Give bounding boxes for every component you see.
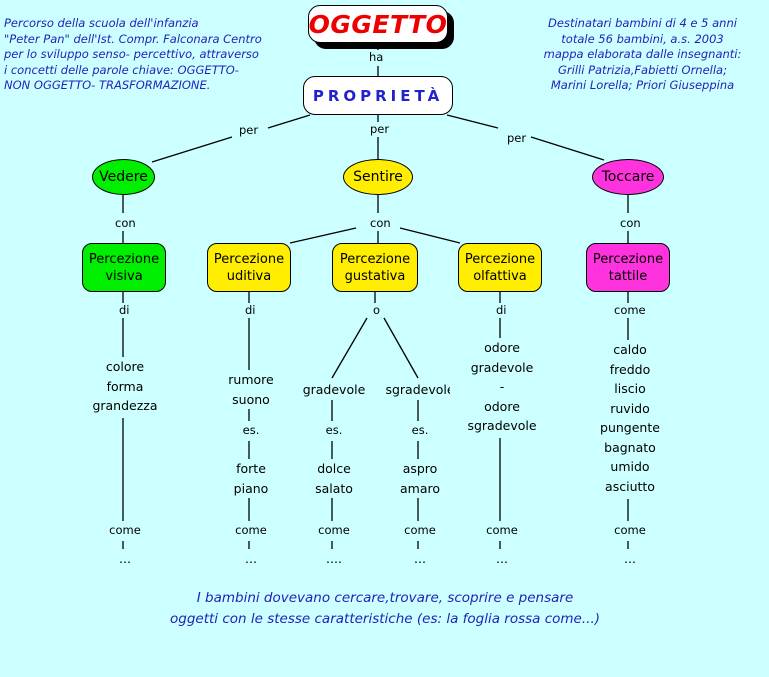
leaf-uditiva-attributes: rumore suono — [204, 370, 298, 409]
leaf-uditiva-come: come — [219, 521, 283, 541]
node-percezione-olfattiva-line1: Percezione — [465, 251, 535, 268]
node-toccare-label: Toccare — [602, 169, 655, 185]
leaf-visiva-attributes: colore forma grandezza — [63, 357, 187, 416]
edge-proprieta-vedere-b — [152, 137, 232, 162]
edge-proprieta-vedere-a — [268, 115, 310, 128]
leaf-olfattiva-attributes: odore gradevole - odore sgradevole — [450, 338, 554, 436]
edge-label-per-toccare: per — [504, 131, 529, 145]
node-percezione-gustativa-line1: Percezione — [340, 251, 410, 268]
leaf-visiva-ellipsis: ... — [103, 549, 147, 569]
leaf-tattile-ellipsis: ... — [608, 549, 652, 569]
node-percezione-uditiva-line1: Percezione — [214, 251, 284, 268]
concept-map: Percorso della scuola dell'infanzia "Pet… — [0, 0, 769, 677]
node-toccare[interactable]: Toccare — [592, 159, 664, 195]
edge-label-con-vedere: con — [112, 216, 139, 230]
leaf-uditiva-examples: forte piano — [209, 459, 293, 498]
node-percezione-tattile-line1: Percezione — [593, 251, 663, 268]
node-sentire-label: Sentire — [353, 169, 403, 185]
header-right-note: Destinatari bambini di 4 e 5 anni totale… — [525, 16, 760, 94]
edge-label-per-sentire: per — [367, 122, 392, 136]
leaf-sgradevole-come: come — [388, 521, 452, 541]
edge-label-con-toccare: con — [617, 216, 644, 230]
node-proprieta-label: PROPRIETÀ — [313, 87, 443, 105]
edge-o-gradevole — [332, 318, 367, 378]
node-sentire[interactable]: Sentire — [343, 159, 413, 195]
leaf-sgradevole-examples: aspro amaro — [378, 459, 462, 498]
footer-caption: I bambini dovevano cercare,trovare, scop… — [100, 588, 670, 630]
edge-con-olfattiva — [400, 228, 460, 243]
leaf-gradevole-examples: dolce salato — [292, 459, 376, 498]
node-percezione-uditiva[interactable]: Percezione uditiva — [207, 243, 291, 292]
node-vedere[interactable]: Vedere — [92, 159, 155, 195]
leaf-uditiva-ellipsis: ... — [229, 549, 273, 569]
leaf-gradevole: gradevole — [287, 380, 381, 400]
node-percezione-visiva[interactable]: Percezione visiva — [82, 243, 166, 292]
node-percezione-olfattiva-line2: olfattiva — [473, 268, 527, 285]
edge-proprieta-toccare-b — [531, 137, 604, 160]
leaf-gradevole-es: es. — [312, 421, 356, 441]
edge-label-per-vedere: per — [236, 123, 261, 137]
leaf-uditiva-es: es. — [229, 421, 273, 441]
leaf-visiva-come: come — [93, 521, 157, 541]
edge-label-di-visiva: di — [116, 303, 133, 317]
leaf-gradevole-ellipsis: .... — [312, 549, 356, 569]
edge-label-ha: ha — [366, 50, 386, 64]
node-proprieta[interactable]: PROPRIETÀ — [303, 76, 453, 115]
leaf-olfattiva-come: come — [470, 521, 534, 541]
node-percezione-visiva-line2: visiva — [105, 268, 142, 285]
header-left-note: Percorso della scuola dell'infanzia "Pet… — [4, 16, 262, 94]
leaf-sgradevole-ellipsis: ... — [398, 549, 442, 569]
edge-proprieta-toccare-a — [447, 115, 498, 128]
edge-label-con-sentire: con — [367, 216, 394, 230]
edge-label-o-gustativa: o — [370, 303, 383, 317]
node-percezione-tattile-line2: tattile — [609, 268, 647, 285]
node-percezione-gustativa-line2: gustativa — [345, 268, 406, 285]
root-node-label: OGGETTO — [309, 10, 448, 39]
node-percezione-olfattiva[interactable]: Percezione olfattiva — [458, 243, 542, 292]
edge-label-di-uditiva: di — [242, 303, 259, 317]
leaf-sgradevole-es: es. — [398, 421, 442, 441]
node-vedere-label: Vedere — [99, 169, 148, 185]
edge-label-come-tattile: come — [611, 303, 649, 317]
node-percezione-tattile[interactable]: Percezione tattile — [586, 243, 670, 292]
edge-label-di-olfattiva: di — [493, 303, 510, 317]
edge-o-sgradevole — [384, 318, 418, 378]
leaf-tattile-attributes: caldo freddo liscio ruvido pungente bagn… — [578, 340, 682, 496]
edge-con-uditiva — [290, 228, 356, 243]
node-percezione-visiva-line1: Percezione — [89, 251, 159, 268]
leaf-tattile-come: come — [598, 521, 662, 541]
leaf-gradevole-come: come — [302, 521, 366, 541]
leaf-olfattiva-ellipsis: ... — [480, 549, 524, 569]
root-node-oggetto[interactable]: OGGETTO — [308, 5, 448, 43]
node-percezione-gustativa[interactable]: Percezione gustativa — [332, 243, 418, 292]
node-percezione-uditiva-line2: uditiva — [227, 268, 271, 285]
